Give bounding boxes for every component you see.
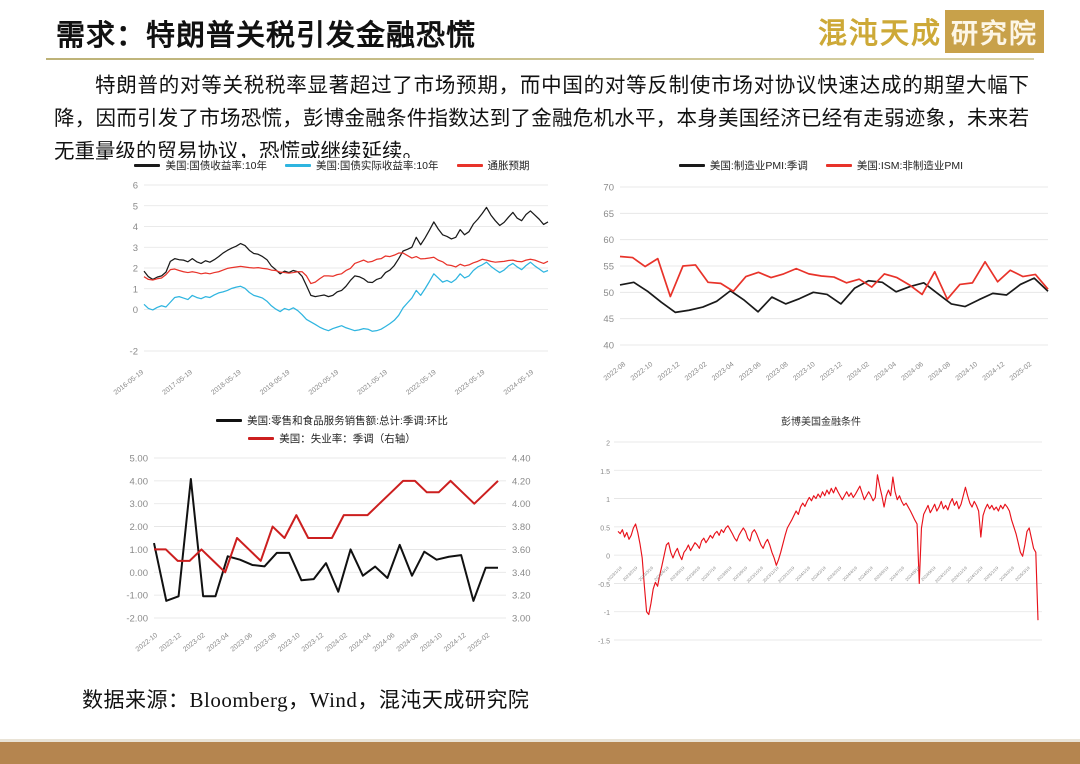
series-line bbox=[618, 475, 1038, 620]
logo-secondary-text: 研究院 bbox=[945, 10, 1044, 53]
legend-swatch-icon bbox=[248, 437, 274, 440]
y-axis-tick-label: 70 bbox=[603, 183, 614, 194]
legend-item: 美国:国债收益率:10年 bbox=[134, 158, 267, 173]
slide-root: 需求：特朗普关税引发金融恐慌 混沌天成 研究院 特朗普的对等关税税率显著超过了市… bbox=[0, 0, 1080, 764]
y-axis-tick-label: 1 bbox=[606, 497, 610, 504]
x-axis-tick-label: 2025/3/19 bbox=[1014, 565, 1031, 582]
legend-item: 通胀预期 bbox=[457, 158, 530, 173]
x-axis-tick-label: 2025-02 bbox=[467, 632, 492, 653]
x-axis-tick-label: 2020-05-19 bbox=[308, 369, 341, 397]
chart-us-pmi: 美国:制造业PMI:季调美国:ISM:非制造业PMI 7065605550454… bbox=[586, 158, 1056, 408]
legend-swatch-icon bbox=[216, 419, 242, 422]
plot-pmi: 706560555045402022-082022-102022-122023-… bbox=[586, 173, 1056, 399]
slide-header: 需求：特朗普关税引发金融恐慌 混沌天成 研究院 bbox=[0, 0, 1080, 62]
charts-area: 美国:国债收益率:10年美国:国债实际收益率:10年通胀预期 6543210-2… bbox=[0, 158, 1080, 673]
y-axis-tick-label: 1 bbox=[133, 284, 138, 295]
x-axis-tick-label: 2022-12 bbox=[158, 632, 183, 653]
chart-title-bloomberg: 彭博美国金融条件 bbox=[586, 413, 1056, 428]
footer-bar bbox=[0, 742, 1080, 764]
legend-item: 美国：失业率：季调（右轴） bbox=[248, 431, 416, 446]
x-axis-tick-label: 2024/6/19 bbox=[873, 565, 890, 582]
data-source-note: 数据来源：Bloomberg，Wind，混沌天成研究院 bbox=[82, 684, 529, 714]
y-axis-tick-label: 40 bbox=[603, 341, 614, 352]
legend-label: 美国：失业率：季调（右轴） bbox=[279, 431, 416, 446]
x-axis-tick-label: 2025/1/19 bbox=[983, 565, 1000, 582]
x-axis-tick-label: 2024-12 bbox=[982, 361, 1007, 382]
legend-swatch-icon bbox=[826, 164, 852, 167]
title-divider bbox=[46, 58, 1034, 60]
y-axis-tick-label: 55 bbox=[603, 262, 614, 273]
x-axis-tick-label: 2024/1/19 bbox=[794, 565, 811, 582]
plot-retail: 5.004.003.002.001.000.00-1.00-2.004.404.… bbox=[108, 446, 556, 661]
y-axis-tick-label: 1.5 bbox=[600, 469, 610, 476]
x-axis-tick-label: 2022-05-19 bbox=[405, 369, 438, 397]
y-axis-tick-label: 5 bbox=[133, 201, 138, 212]
company-logo: 混沌天成 研究院 bbox=[818, 10, 1044, 52]
y2-axis-tick-label: 3.00 bbox=[512, 614, 531, 625]
x-axis-tick-label: 2023/2/19 bbox=[622, 565, 639, 582]
x-axis-tick-label: 2023-04 bbox=[206, 632, 231, 653]
y-axis-tick-label: -1 bbox=[604, 610, 610, 617]
x-axis-tick-label: 2024/2/19 bbox=[810, 565, 827, 582]
x-axis-tick-label: 2018-05-19 bbox=[210, 369, 243, 397]
series-line bbox=[144, 207, 548, 296]
x-axis-tick-label: 2023-10 bbox=[277, 632, 302, 653]
x-axis-tick-label: 2022-10 bbox=[630, 361, 655, 382]
x-axis-tick-label: 2024-10 bbox=[419, 632, 444, 653]
y-axis-tick-label: 5.00 bbox=[130, 454, 149, 465]
chart-legend-retail: 美国:零售和食品服务销售额:总计:季调:环比美国：失业率：季调（右轴） bbox=[108, 413, 556, 446]
y-axis-tick-label: 0.00 bbox=[130, 568, 149, 579]
x-axis-tick-label: 2024-04 bbox=[348, 632, 373, 653]
legend-item: 美国:制造业PMI:季调 bbox=[679, 158, 808, 173]
x-axis-tick-label: 2023-06 bbox=[230, 632, 255, 653]
y2-axis-tick-label: 4.20 bbox=[512, 476, 531, 487]
legend-label: 通胀预期 bbox=[488, 158, 530, 173]
logo-primary-text: 混沌天成 bbox=[818, 10, 942, 52]
y-axis-tick-label: 60 bbox=[603, 235, 614, 246]
x-axis-tick-label: 2023/7/19 bbox=[700, 565, 717, 582]
legend-item: 美国:零售和食品服务销售额:总计:季调:环比 bbox=[216, 413, 448, 428]
legend-swatch-icon bbox=[679, 164, 705, 167]
legend-swatch-icon bbox=[134, 164, 160, 167]
x-axis-tick-label: 2024/5/19 bbox=[857, 565, 874, 582]
x-axis-tick-label: 2023-12 bbox=[819, 361, 844, 382]
x-axis-tick-label: 2022-12 bbox=[657, 361, 682, 382]
x-axis-tick-label: 2023/3/19 bbox=[637, 565, 654, 582]
x-axis-tick-label: 2024/7/19 bbox=[888, 565, 905, 582]
x-axis-tick-label: 2023/12/19 bbox=[777, 565, 796, 584]
x-axis-tick-label: 2023-02 bbox=[684, 361, 709, 382]
chart-us-treasury-yields: 美国:国债收益率:10年美国:国债实际收益率:10年通胀预期 6543210-2… bbox=[108, 158, 556, 408]
x-axis-tick-label: 2023-08 bbox=[765, 361, 790, 382]
y-axis-tick-label: 0 bbox=[606, 554, 610, 561]
x-axis-tick-label: 2023-08 bbox=[253, 632, 278, 653]
x-axis-tick-label: 2016-05-19 bbox=[113, 369, 146, 397]
x-axis-tick-label: 2023-10 bbox=[792, 361, 817, 382]
x-axis-tick-label: 2024-05-19 bbox=[503, 369, 536, 397]
x-axis-tick-label: 2024/3/19 bbox=[826, 565, 843, 582]
y-axis-tick-label: -1.5 bbox=[598, 639, 610, 646]
x-axis-tick-label: 2024-08 bbox=[927, 361, 952, 382]
legend-item: 美国:ISM:非制造业PMI bbox=[826, 158, 963, 173]
y-axis-tick-label: 1.00 bbox=[130, 545, 149, 556]
body-paragraph: 特朗普的对等关税税率显著超过了市场预期，而中国的对等反制使市场对协议快速达成的期… bbox=[54, 70, 1029, 170]
series-line bbox=[620, 278, 1048, 312]
page-title: 需求：特朗普关税引发金融恐慌 bbox=[56, 12, 476, 54]
x-axis-tick-label: 2023-06 bbox=[738, 361, 763, 382]
y-axis-tick-label: -0.5 bbox=[598, 582, 610, 589]
y-axis-tick-label: 2.00 bbox=[130, 522, 149, 533]
x-axis-tick-label: 2024-12 bbox=[443, 632, 468, 653]
y2-axis-tick-label: 3.20 bbox=[512, 591, 531, 602]
y-axis-tick-label: 50 bbox=[603, 288, 614, 299]
x-axis-tick-label: 2023-05-19 bbox=[454, 369, 487, 397]
y-axis-tick-label: 2 bbox=[606, 441, 610, 448]
chart-legend-treasury: 美国:国债收益率:10年美国:国债实际收益率:10年通胀预期 bbox=[108, 158, 556, 173]
x-axis-tick-label: 2024-02 bbox=[324, 632, 349, 653]
y2-axis-tick-label: 4.40 bbox=[512, 454, 531, 465]
y-axis-tick-label: 0.5 bbox=[600, 525, 610, 532]
x-axis-tick-label: 2017-05-19 bbox=[161, 369, 194, 397]
y-axis-tick-label: 65 bbox=[603, 209, 614, 220]
x-axis-tick-label: 2023-02 bbox=[182, 632, 207, 653]
y-axis-tick-label: 4.00 bbox=[130, 476, 149, 487]
chart-legend-pmi: 美国:制造业PMI:季调美国:ISM:非制造业PMI bbox=[586, 158, 1056, 173]
x-axis-tick-label: 2024-08 bbox=[396, 632, 421, 653]
legend-item: 美国:国债实际收益率:10年 bbox=[285, 158, 439, 173]
y-axis-tick-label: -1.00 bbox=[126, 591, 148, 602]
y2-axis-tick-label: 4.00 bbox=[512, 499, 531, 510]
x-axis-tick-label: 2024/12/19 bbox=[965, 565, 984, 584]
y2-axis-tick-label: 3.80 bbox=[512, 522, 531, 533]
x-axis-tick-label: 2024-06 bbox=[372, 632, 397, 653]
legend-swatch-icon bbox=[457, 164, 483, 167]
x-axis-tick-label: 2019-05-19 bbox=[259, 369, 292, 397]
series-line bbox=[154, 479, 498, 601]
x-axis-tick-label: 2023/5/19 bbox=[669, 565, 686, 582]
x-axis-tick-label: 2021-05-19 bbox=[356, 369, 389, 397]
legend-label: 美国:零售和食品服务销售额:总计:季调:环比 bbox=[247, 413, 448, 428]
x-axis-tick-label: 2023-04 bbox=[711, 361, 736, 382]
legend-label: 美国:国债收益率:10年 bbox=[165, 158, 267, 173]
x-axis-tick-label: 2023/8/19 bbox=[716, 565, 733, 582]
y-axis-tick-label: 45 bbox=[603, 314, 614, 325]
legend-label: 美国:ISM:非制造业PMI bbox=[857, 158, 963, 173]
x-axis-tick-label: 2024-02 bbox=[846, 361, 871, 382]
series-line bbox=[620, 257, 1048, 300]
y-axis-tick-label: 4 bbox=[133, 222, 138, 233]
plot-bloomberg: 21.510.50-0.5-1-1.52023/1/192023/2/19202… bbox=[586, 428, 1056, 663]
x-axis-tick-label: 2022-10 bbox=[135, 632, 160, 653]
x-axis-tick-label: 2023/6/19 bbox=[684, 565, 701, 582]
plot-treasury: 6543210-22016-05-192017-05-192018-05-192… bbox=[108, 173, 556, 399]
y2-axis-tick-label: 3.40 bbox=[512, 568, 531, 579]
y-axis-tick-label: 0 bbox=[133, 305, 138, 316]
y-axis-tick-label: 2 bbox=[133, 264, 138, 275]
x-axis-tick-label: 2025-02 bbox=[1009, 361, 1034, 382]
x-axis-tick-label: 2022-08 bbox=[603, 361, 628, 382]
x-axis-tick-label: 2023-12 bbox=[301, 632, 326, 653]
x-axis-tick-label: 2025/2/19 bbox=[998, 565, 1015, 582]
x-axis-tick-label: 2024-10 bbox=[955, 361, 980, 382]
y-axis-tick-label: -2.00 bbox=[126, 614, 148, 625]
legend-label: 美国:制造业PMI:季调 bbox=[710, 158, 808, 173]
x-axis-tick-label: 2023/1/19 bbox=[606, 565, 623, 582]
y-axis-tick-label: 6 bbox=[133, 181, 138, 192]
chart-bloomberg-financial-conditions: 彭博美国金融条件 21.510.50-0.5-1-1.52023/1/19202… bbox=[586, 413, 1056, 668]
x-axis-tick-label: 2024-04 bbox=[873, 361, 898, 382]
legend-swatch-icon bbox=[285, 164, 311, 167]
x-axis-tick-label: 2024/4/19 bbox=[841, 565, 858, 582]
x-axis-tick-label: 2024-06 bbox=[900, 361, 925, 382]
legend-label: 美国:国债实际收益率:10年 bbox=[316, 158, 439, 173]
y-axis-tick-label: -2 bbox=[130, 347, 138, 358]
chart-us-retail-unemployment: 美国:零售和食品服务销售额:总计:季调:环比美国：失业率：季调（右轴） 5.00… bbox=[108, 413, 556, 668]
y-axis-tick-label: 3.00 bbox=[130, 499, 149, 510]
y-axis-tick-label: 3 bbox=[133, 243, 138, 254]
y2-axis-tick-label: 3.60 bbox=[512, 545, 531, 556]
